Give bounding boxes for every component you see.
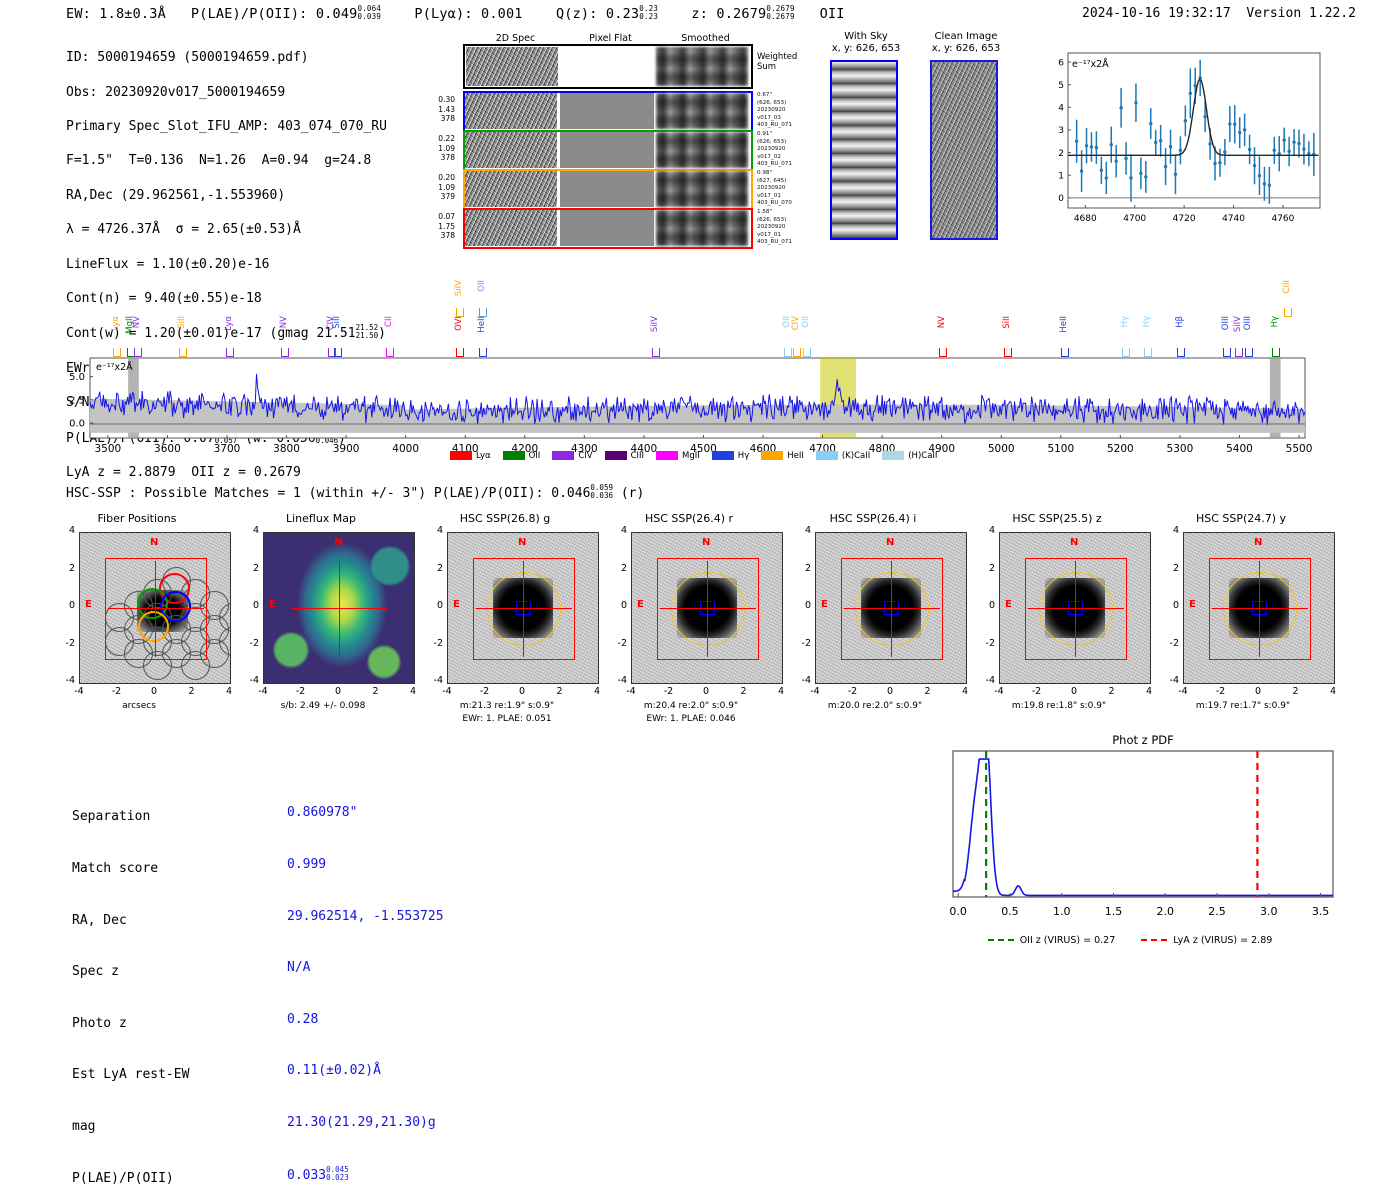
compass-north-label: N bbox=[1070, 537, 1078, 548]
header-z-label: z: bbox=[691, 6, 708, 22]
cutout-5-ytick-2: 0 bbox=[973, 600, 995, 611]
svg-text:4680: 4680 bbox=[1074, 214, 1097, 224]
cutout-4-xtick-0: -4 bbox=[805, 686, 825, 697]
svg-text:0.0: 0.0 bbox=[69, 419, 85, 430]
legend-swatch-3 bbox=[605, 451, 627, 460]
cutout-5-ytick-1: -2 bbox=[973, 638, 995, 649]
spectrum-legend: LyαOIICIVCIIIMgIIHγHeII(K)CaII(H)CaII bbox=[450, 445, 949, 464]
compass-east-label: E bbox=[85, 599, 92, 610]
compass-north-label: N bbox=[886, 537, 894, 548]
clean-image-title: Clean Image x, y: 626, 653 bbox=[922, 31, 1010, 55]
spectrum-legend-item-civ: CIV bbox=[552, 451, 592, 461]
cutout-image-1[interactable]: NE bbox=[263, 532, 415, 684]
cutout-0-xtick-2: 0 bbox=[144, 686, 164, 697]
cutout-sub2-2: EWr: 1. PLAE: 0.051 bbox=[417, 713, 597, 725]
cutout-image-6[interactable]: NE bbox=[1183, 532, 1335, 684]
cutout-panels: Fiber PositionsNE-4-4-2-2002244arcsecsLi… bbox=[0, 512, 1400, 742]
cutout-image-3[interactable]: NE bbox=[631, 532, 783, 684]
label-plae: P(LAE)/P(OII) bbox=[72, 1170, 189, 1187]
svg-text:2: 2 bbox=[1058, 149, 1064, 159]
crosshair-gap bbox=[328, 597, 352, 621]
line-profile-chart: 0123456 46804700472047404760 e⁻¹⁷x2Å bbox=[1030, 45, 1330, 245]
photz-legend-swatch-0 bbox=[988, 939, 1014, 941]
cutout-4-ytick-4: 4 bbox=[789, 525, 811, 536]
legend-label-3: CIII bbox=[631, 451, 644, 461]
svg-text:3.0: 3.0 bbox=[1260, 905, 1278, 918]
spec2d-row-1 bbox=[463, 91, 753, 132]
cutout-title-2: HSC SSP(26.8) g bbox=[420, 512, 590, 525]
cutout-6-xtick-2: 0 bbox=[1248, 686, 1268, 697]
header-plae-value: 0.049 bbox=[316, 6, 358, 22]
label-mag: mag bbox=[72, 1118, 189, 1135]
cutout-4-ytick-3: 2 bbox=[789, 563, 811, 574]
row3-right-labels: 0.98" (627, 645) 20230920 v017_01 403_RU… bbox=[757, 170, 792, 208]
cutout-title-0: Fiber Positions bbox=[52, 512, 222, 525]
svg-text:0.0: 0.0 bbox=[949, 905, 967, 918]
cutout-image-4[interactable]: NE bbox=[815, 532, 967, 684]
photz-legend-label-1: LyA z (VIRUS) = 2.89 bbox=[1173, 935, 1272, 946]
svg-text:5100: 5100 bbox=[1047, 443, 1074, 455]
cutout-6-xtick-3: 2 bbox=[1286, 686, 1306, 697]
crosshair-gap bbox=[1248, 597, 1272, 621]
cutout-4-ytick-0: -4 bbox=[789, 675, 811, 686]
cutout-0-xtick-3: 2 bbox=[182, 686, 202, 697]
cutout-1-ytick-2: 0 bbox=[237, 600, 259, 611]
cutout-panel-4[interactable]: HSC SSP(26.4) iNE-4-4-2-2002244m:20.0 re… bbox=[793, 512, 975, 742]
svg-text:4700: 4700 bbox=[1123, 214, 1146, 224]
cutout-1-ytick-4: 4 bbox=[237, 525, 259, 536]
label-radec: RA, Dec bbox=[72, 912, 189, 929]
match-table-values: 0.860978" 0.999 29.962514, -1.553725 N/A… bbox=[287, 770, 444, 1201]
cutout-0-ytick-4: 4 bbox=[53, 525, 75, 536]
header-z-errors: 0.26790.2679 bbox=[766, 5, 794, 21]
row1-pixelflat bbox=[560, 93, 654, 129]
photz-legend-item-0: OII z (VIRUS) = 0.27 bbox=[988, 935, 1116, 946]
cutout-6-xtick-1: -2 bbox=[1211, 686, 1231, 697]
cutout-3-xtick-2: 0 bbox=[696, 686, 716, 697]
hsc-heading-value: 0.046 bbox=[551, 486, 590, 501]
svg-text:6: 6 bbox=[1058, 58, 1064, 68]
compass-east-label: E bbox=[1189, 599, 1196, 610]
cutout-2-ytick-2: 0 bbox=[421, 600, 443, 611]
compass-north-label: N bbox=[1254, 537, 1262, 548]
row2-pixelflat bbox=[560, 132, 654, 168]
compass-east-label: E bbox=[821, 599, 828, 610]
svg-text:0: 0 bbox=[1058, 194, 1064, 204]
header-z-value: 0.2679 bbox=[716, 6, 766, 22]
cutout-sub1-3: m:20.4 re:2.0" s:0.9" bbox=[601, 700, 781, 712]
spectrum-legend-item-oii: OII bbox=[503, 451, 541, 461]
svg-text:3600: 3600 bbox=[154, 443, 181, 455]
phot-z-pdf-legend: OII z (VIRUS) = 0.27LyA z (VIRUS) = 2.89 bbox=[933, 926, 1353, 946]
crosshair-gap bbox=[880, 597, 904, 621]
svg-text:1.0: 1.0 bbox=[1053, 905, 1071, 918]
photz-legend-label-0: OII z (VIRUS) = 0.27 bbox=[1020, 935, 1116, 946]
cutout-1-xtick-4: 4 bbox=[403, 686, 423, 697]
cutout-panel-3[interactable]: HSC SSP(26.4) rNE-4-4-2-2002244m:20.4 re… bbox=[609, 512, 791, 742]
cutout-image-5[interactable]: NE bbox=[999, 532, 1151, 684]
cutout-5-xtick-3: 2 bbox=[1102, 686, 1122, 697]
cutout-0-xtick-1: -2 bbox=[107, 686, 127, 697]
row3-smoothed bbox=[656, 171, 748, 207]
svg-text:2.0: 2.0 bbox=[1157, 905, 1175, 918]
cutout-3-xtick-4: 4 bbox=[771, 686, 791, 697]
legend-label-6: HeII bbox=[787, 451, 804, 461]
cutout-image-0[interactable]: NE bbox=[79, 532, 231, 684]
cutout-sub1-2: m:21.3 re:1.9" s:0.9" bbox=[417, 700, 597, 712]
header-qz-value: 0.23 bbox=[606, 6, 639, 22]
svg-text:5200: 5200 bbox=[1107, 443, 1134, 455]
cutout-6-ytick-1: -2 bbox=[1157, 638, 1179, 649]
crosshair-gap bbox=[512, 597, 536, 621]
legend-swatch-7 bbox=[816, 451, 838, 460]
crosshair-gap bbox=[1064, 597, 1088, 621]
cutout-title-4: HSC SSP(26.4) i bbox=[788, 512, 958, 525]
cutout-sub1-4: m:20.0 re:2.0" s:0.9" bbox=[785, 700, 965, 712]
compass-north-label: N bbox=[702, 537, 710, 548]
cutout-sub1-0: arcsecs bbox=[49, 700, 229, 712]
cutout-6-ytick-3: 2 bbox=[1157, 563, 1179, 574]
row2-2dspec bbox=[465, 132, 557, 168]
legend-swatch-0 bbox=[450, 451, 472, 460]
header-datetime: 2024-10-16 19:32:17 bbox=[1082, 6, 1231, 21]
photz-legend-swatch-1 bbox=[1141, 939, 1167, 941]
photz-legend-item-1: LyA z (VIRUS) = 2.89 bbox=[1141, 935, 1272, 946]
cutout-3-ytick-0: -4 bbox=[605, 675, 627, 686]
cutout-5-xtick-2: 0 bbox=[1064, 686, 1084, 697]
legend-label-1: OII bbox=[529, 451, 541, 461]
row4-right-labels: 1.58" (626, 653) 20230920 v017_01 403_RU… bbox=[757, 209, 792, 247]
spectrum-legend-item-hγ: Hγ bbox=[712, 451, 749, 461]
line-profile-unit-label: e⁻¹⁷x2Å bbox=[1072, 58, 1109, 70]
header-qz-errors: 0.230.23 bbox=[639, 5, 658, 21]
row3-left-labels: 0.20 1.09 379 bbox=[415, 173, 455, 202]
header-qz-label: Q(z): bbox=[556, 6, 598, 22]
cutout-2-ytick-1: -2 bbox=[421, 638, 443, 649]
legend-label-8: (H)CaII bbox=[908, 451, 937, 461]
cutout-1-xtick-3: 2 bbox=[366, 686, 386, 697]
cutout-3-ytick-3: 2 bbox=[605, 563, 627, 574]
cutout-1-xtick-1: -2 bbox=[291, 686, 311, 697]
svg-text:4760: 4760 bbox=[1271, 214, 1294, 224]
cutout-panel-2[interactable]: HSC SSP(26.8) gNE-4-4-2-2002244m:21.3 re… bbox=[425, 512, 607, 742]
label-photo-z: Photo z bbox=[72, 1015, 189, 1032]
info-wavelength: λ = 4726.37Å σ = 2.65(±0.53)Å bbox=[66, 221, 387, 238]
cutout-6-ytick-4: 4 bbox=[1157, 525, 1179, 536]
cutout-1-xtick-2: 0 bbox=[328, 686, 348, 697]
value-photo-z: 0.28 bbox=[287, 1011, 444, 1028]
cutout-title-3: HSC SSP(26.4) r bbox=[604, 512, 774, 525]
cutout-0-xtick-4: 4 bbox=[219, 686, 239, 697]
row1-left-labels: 0.30 1.43 378 bbox=[415, 95, 455, 124]
cutout-sub1-6: m:19.7 re:1.7" s:0.9" bbox=[1153, 700, 1333, 712]
compass-east-label: E bbox=[1005, 599, 1012, 610]
legend-label-0: Lyα bbox=[476, 451, 491, 461]
label-spec-z: Spec z bbox=[72, 963, 189, 980]
cutout-5-ytick-4: 4 bbox=[973, 525, 995, 536]
header-summary: EW: 1.8±0.3Å P(LAE)/P(OII): 0.0490.0640.… bbox=[66, 5, 845, 22]
weighted-sum-strip bbox=[463, 44, 753, 89]
phot-z-pdf-chart: Phot z PDF 0.00.51.01.52.02.53.03.5 OII … bbox=[933, 733, 1353, 948]
spec2d-row-3 bbox=[463, 169, 753, 210]
info-obs: Obs: 20230920v017_5000194659 bbox=[66, 84, 387, 101]
line-profile-svg: 0123456 46804700472047404760 e⁻¹⁷x2Å bbox=[1030, 45, 1330, 245]
legend-swatch-4 bbox=[656, 451, 678, 460]
spec2d-row-2 bbox=[463, 130, 753, 171]
full-spectrum-chart: LyαMgIINVSiIILyαNVCIVSiIICIIOVISiIVHeIIO… bbox=[60, 278, 1340, 468]
value-radec: 29.962514, -1.553725 bbox=[287, 908, 444, 925]
svg-text:3.5: 3.5 bbox=[1312, 905, 1330, 918]
spectrum-legend-item-kcaii: (K)CaII bbox=[816, 451, 870, 461]
compass-north-label: N bbox=[150, 537, 158, 548]
svg-text:4740: 4740 bbox=[1222, 214, 1245, 224]
weighted-sum-label: Weighted Sum bbox=[757, 52, 797, 72]
svg-text:3500: 3500 bbox=[95, 443, 122, 455]
label-match-score: Match score bbox=[72, 860, 189, 877]
legend-label-4: MgII bbox=[682, 451, 700, 461]
info-radec: RA,Dec (29.962561,-1.553960) bbox=[66, 187, 387, 204]
row2-smoothed bbox=[656, 132, 748, 168]
value-est-lya-ew: 0.11(±0.02)Å bbox=[287, 1062, 444, 1079]
cutout-sub1-1: s/b: 2.49 +/- 0.098 bbox=[233, 700, 413, 712]
cutout-2-xtick-1: -2 bbox=[475, 686, 495, 697]
header-ew: EW: 1.8±0.3Å bbox=[66, 6, 166, 22]
cutout-panel-5[interactable]: HSC SSP(25.5) zNE-4-4-2-2002244m:19.8 re… bbox=[977, 512, 1159, 742]
cutout-2-ytick-0: -4 bbox=[421, 675, 443, 686]
crosshair-gap bbox=[144, 597, 168, 621]
cutout-5-xtick-4: 4 bbox=[1139, 686, 1159, 697]
spectrum-legend-item-hcaii: (H)CaII bbox=[882, 451, 937, 461]
value-match-score: 0.999 bbox=[287, 856, 444, 873]
cutout-6-ytick-0: -4 bbox=[1157, 675, 1179, 686]
value-spec-z: N/A bbox=[287, 959, 444, 976]
cutout-0-ytick-2: 0 bbox=[53, 600, 75, 611]
value-separation: 0.860978" bbox=[287, 804, 444, 821]
compass-east-label: E bbox=[269, 599, 276, 610]
header-z-type: OII bbox=[820, 6, 845, 22]
cutout-5-xtick-1: -2 bbox=[1027, 686, 1047, 697]
hsc-heading-suffix: (r) bbox=[621, 486, 644, 501]
crosshair-gap bbox=[696, 597, 720, 621]
cutout-4-ytick-2: 0 bbox=[789, 600, 811, 611]
row4-smoothed bbox=[656, 210, 748, 246]
svg-text:2.5: 2.5 bbox=[69, 395, 85, 406]
cutout-6-ytick-2: 0 bbox=[1157, 600, 1179, 611]
cutout-2-xtick-3: 2 bbox=[550, 686, 570, 697]
row4-2dspec bbox=[465, 210, 557, 246]
value-plae: 0.0330.0450.023 bbox=[287, 1166, 444, 1184]
phot-z-pdf-svg: 0.00.51.01.52.02.53.03.5 bbox=[933, 747, 1353, 947]
cutout-2-xtick-4: 4 bbox=[587, 686, 607, 697]
row1-2dspec bbox=[465, 93, 557, 129]
legend-swatch-5 bbox=[712, 451, 734, 460]
header-timestamp: 2024-10-16 19:32:17 Version 1.22.2 bbox=[1082, 6, 1356, 21]
cutout-0-ytick-3: 2 bbox=[53, 563, 75, 574]
svg-text:1.5: 1.5 bbox=[1105, 905, 1123, 918]
row3-2dspec bbox=[465, 171, 557, 207]
weighted-sum-2dspec bbox=[466, 47, 558, 86]
row2-right-labels: 0.91" (626, 653) 20230920 v017_02 403_RU… bbox=[757, 131, 792, 169]
hsc-heading-errors: 0.0590.036 bbox=[590, 484, 613, 500]
hsc-heading-prefix: HSC-SSP : Possible Matches = 1 (within +… bbox=[66, 486, 543, 501]
spec2d-row-4 bbox=[463, 208, 753, 249]
cutout-panel-6[interactable]: HSC SSP(24.7) yNE-4-4-2-2002244m:19.7 re… bbox=[1161, 512, 1343, 742]
info-primary-spec: Primary Spec_Slot_IFU_AMP: 403_074_070_R… bbox=[66, 118, 387, 135]
cutout-4-xtick-3: 2 bbox=[918, 686, 938, 697]
cutout-4-xtick-1: -2 bbox=[843, 686, 863, 697]
value-mag: 21.30(21.29,21.30)g bbox=[287, 1114, 444, 1131]
cutout-3-ytick-2: 0 bbox=[605, 600, 627, 611]
label-separation: Separation bbox=[72, 808, 189, 825]
cutout-2-ytick-3: 2 bbox=[421, 563, 443, 574]
cutout-5-ytick-3: 2 bbox=[973, 563, 995, 574]
label-est-lya-ew: Est LyA rest-EW bbox=[72, 1066, 189, 1083]
legend-label-7: (K)CaII bbox=[842, 451, 870, 461]
row4-left-labels: 0.07 1.75 378 bbox=[415, 212, 455, 241]
legend-swatch-1 bbox=[503, 451, 525, 460]
svg-text:2.5: 2.5 bbox=[1208, 905, 1226, 918]
cutout-4-xtick-4: 4 bbox=[955, 686, 975, 697]
col-title-smoothed: Smoothed bbox=[658, 33, 753, 44]
header-version: Version 1.22.2 bbox=[1246, 6, 1356, 21]
cutout-1-ytick-3: 2 bbox=[237, 563, 259, 574]
svg-text:5500: 5500 bbox=[1286, 443, 1313, 455]
svg-text:3700: 3700 bbox=[214, 443, 241, 455]
svg-text:3900: 3900 bbox=[333, 443, 360, 455]
cutout-title-5: HSC SSP(25.5) z bbox=[972, 512, 1142, 525]
cutout-1-ytick-1: -2 bbox=[237, 638, 259, 649]
col-title-pixelflat: Pixel Flat bbox=[563, 33, 658, 44]
cutout-4-xtick-2: 0 bbox=[880, 686, 900, 697]
cutout-panel-0[interactable]: Fiber PositionsNE-4-4-2-2002244arcsecs bbox=[57, 512, 239, 742]
cutout-1-ytick-0: -4 bbox=[237, 675, 259, 686]
cutout-2-xtick-0: -4 bbox=[437, 686, 457, 697]
cutout-0-ytick-1: -2 bbox=[53, 638, 75, 649]
cutout-5-ytick-0: -4 bbox=[973, 675, 995, 686]
phot-z-pdf-title: Phot z PDF bbox=[933, 733, 1353, 747]
compass-east-label: E bbox=[637, 599, 644, 610]
cutout-3-ytick-1: -2 bbox=[605, 638, 627, 649]
svg-text:4720: 4720 bbox=[1173, 214, 1196, 224]
cutout-2-ytick-4: 4 bbox=[421, 525, 443, 536]
compass-north-label: N bbox=[334, 537, 342, 548]
cutout-3-xtick-1: -2 bbox=[659, 686, 679, 697]
cutout-0-ytick-0: -4 bbox=[53, 675, 75, 686]
spectrum-legend-item-heii: HeII bbox=[761, 451, 804, 461]
weighted-sum-pixelflat bbox=[560, 47, 654, 86]
cutout-6-xtick-0: -4 bbox=[1173, 686, 1193, 697]
compass-east-label: E bbox=[453, 599, 460, 610]
spectrum-legend-item-ciii: CIII bbox=[605, 451, 644, 461]
col-title-2dspec: 2D Spec bbox=[468, 33, 563, 44]
row2-left-labels: 0.22 1.09 378 bbox=[415, 134, 455, 163]
header-plae-errors: 0.0640.039 bbox=[357, 5, 381, 21]
legend-swatch-6 bbox=[761, 451, 783, 460]
with-sky-title: With Sky x, y: 626, 653 bbox=[828, 31, 904, 55]
legend-label-5: Hγ bbox=[738, 451, 749, 461]
svg-text:4000: 4000 bbox=[392, 443, 419, 455]
cutout-title-1: Lineflux Map bbox=[236, 512, 406, 525]
spectrum-legend-item-lyα: Lyα bbox=[450, 451, 491, 461]
svg-text:3: 3 bbox=[1058, 126, 1064, 136]
cutout-4-ytick-1: -2 bbox=[789, 638, 811, 649]
spectrum-unit-label: e⁻¹⁷x2Å bbox=[96, 361, 133, 373]
svg-text:5400: 5400 bbox=[1226, 443, 1253, 455]
svg-text:5000: 5000 bbox=[988, 443, 1015, 455]
spectrum-legend-item-mgii: MgII bbox=[656, 451, 700, 461]
cutout-3-ytick-4: 4 bbox=[605, 525, 627, 536]
cutout-2-xtick-2: 0 bbox=[512, 686, 532, 697]
row1-smoothed bbox=[656, 93, 748, 129]
cutout-5-xtick-0: -4 bbox=[989, 686, 1009, 697]
legend-swatch-2 bbox=[552, 451, 574, 460]
info-lineflux: LineFlux = 1.10(±0.20)e-16 bbox=[66, 256, 387, 273]
svg-text:3800: 3800 bbox=[273, 443, 300, 455]
row4-pixelflat bbox=[560, 210, 654, 246]
cutout-panel-1[interactable]: Lineflux MapNE-4-4-2-2002244s/b: 2.49 +/… bbox=[241, 512, 423, 742]
cutout-6-xtick-4: 4 bbox=[1323, 686, 1343, 697]
value-plae-errors: 0.0450.023 bbox=[326, 1166, 349, 1182]
cutout-3-xtick-3: 2 bbox=[734, 686, 754, 697]
hsc-heading: HSC-SSP : Possible Matches = 1 (within +… bbox=[66, 484, 644, 501]
info-seeing-params: F=1.5" T=0.136 N=1.26 A=0.94 g=24.8 bbox=[66, 152, 387, 169]
cutout-1-xtick-0: -4 bbox=[253, 686, 273, 697]
compass-north-label: N bbox=[518, 537, 526, 548]
svg-text:1: 1 bbox=[1058, 171, 1064, 181]
svg-text:5: 5 bbox=[1058, 81, 1064, 91]
cutout-title-6: HSC SSP(24.7) y bbox=[1156, 512, 1326, 525]
with-sky-image bbox=[830, 60, 898, 240]
match-table-labels: Separation Match score RA, Dec Spec z Ph… bbox=[72, 774, 189, 1204]
clean-image bbox=[930, 60, 998, 240]
cutout-3-xtick-0: -4 bbox=[621, 686, 641, 697]
cutout-0-xtick-0: -4 bbox=[69, 686, 89, 697]
row3-pixelflat bbox=[560, 171, 654, 207]
spectrum-svg: 0.02.55.0 350036003700380039004000410042… bbox=[60, 278, 1340, 468]
cutout-sub1-5: m:19.8 re:1.8" s:0.9" bbox=[969, 700, 1149, 712]
header-plya: P(Lyα): 0.001 bbox=[414, 6, 522, 22]
svg-text:4: 4 bbox=[1058, 104, 1064, 114]
svg-text:5300: 5300 bbox=[1167, 443, 1194, 455]
weighted-sum-smoothed bbox=[656, 47, 748, 86]
header-plae-label: P(LAE)/P(OII): bbox=[191, 6, 308, 22]
svg-text:5.0: 5.0 bbox=[69, 372, 85, 383]
cutout-image-2[interactable]: NE bbox=[447, 532, 599, 684]
legend-label-2: CIV bbox=[578, 451, 592, 461]
cutout-sub2-3: EWr: 1. PLAE: 0.046 bbox=[601, 713, 781, 725]
legend-swatch-8 bbox=[882, 451, 904, 460]
svg-text:0.5: 0.5 bbox=[1001, 905, 1019, 918]
info-id: ID: 5000194659 (5000194659.pdf) bbox=[66, 49, 387, 66]
row1-right-labels: 0.67" (626, 653) 20230920 v017_03 403_RU… bbox=[757, 92, 792, 130]
